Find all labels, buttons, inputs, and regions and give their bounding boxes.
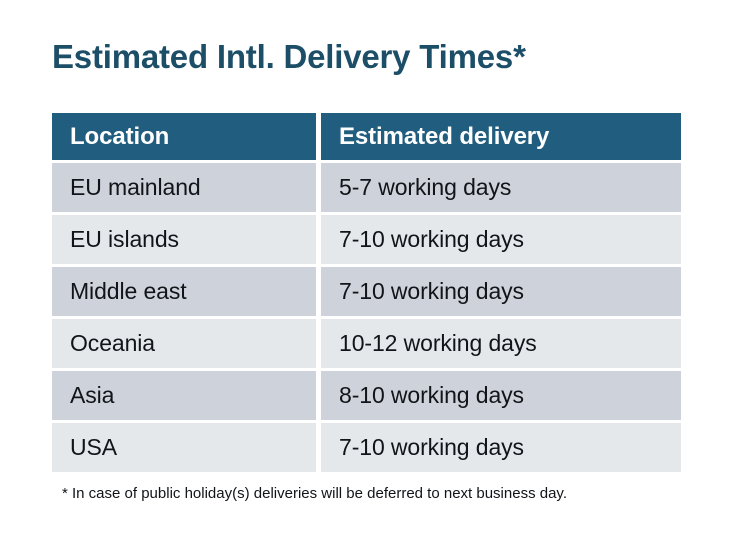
column-header-estimated-delivery: Estimated delivery	[321, 113, 681, 160]
page-title: Estimated Intl. Delivery Times*	[52, 36, 526, 78]
table-row: Middle east 7-10 working days	[52, 267, 681, 316]
cell-delivery: 7-10 working days	[321, 423, 681, 472]
cell-delivery: 7-10 working days	[321, 215, 681, 264]
cell-delivery: 7-10 working days	[321, 267, 681, 316]
cell-location: USA	[52, 423, 316, 472]
column-header-location: Location	[52, 113, 316, 160]
delivery-times-page: Estimated Intl. Delivery Times* Location…	[0, 0, 745, 536]
estimated-delivery-times-table: Location Estimated delivery EU mainland …	[47, 110, 686, 475]
table-header: Location Estimated delivery	[52, 113, 681, 160]
table-row: Oceania 10-12 working days	[52, 319, 681, 368]
cell-location: Asia	[52, 371, 316, 420]
table-row: EU islands 7-10 working days	[52, 215, 681, 264]
cell-delivery: 8-10 working days	[321, 371, 681, 420]
cell-location: EU mainland	[52, 163, 316, 212]
footnote-text: * In case of public holiday(s) deliverie…	[62, 483, 567, 505]
cell-location: Middle east	[52, 267, 316, 316]
table-header-row: Location Estimated delivery	[52, 113, 681, 160]
cell-location: Oceania	[52, 319, 316, 368]
table-body: EU mainland 5-7 working days EU islands …	[52, 163, 681, 472]
cell-delivery: 10-12 working days	[321, 319, 681, 368]
cell-delivery: 5-7 working days	[321, 163, 681, 212]
table-row: USA 7-10 working days	[52, 423, 681, 472]
table-row: EU mainland 5-7 working days	[52, 163, 681, 212]
cell-location: EU islands	[52, 215, 316, 264]
table-row: Asia 8-10 working days	[52, 371, 681, 420]
